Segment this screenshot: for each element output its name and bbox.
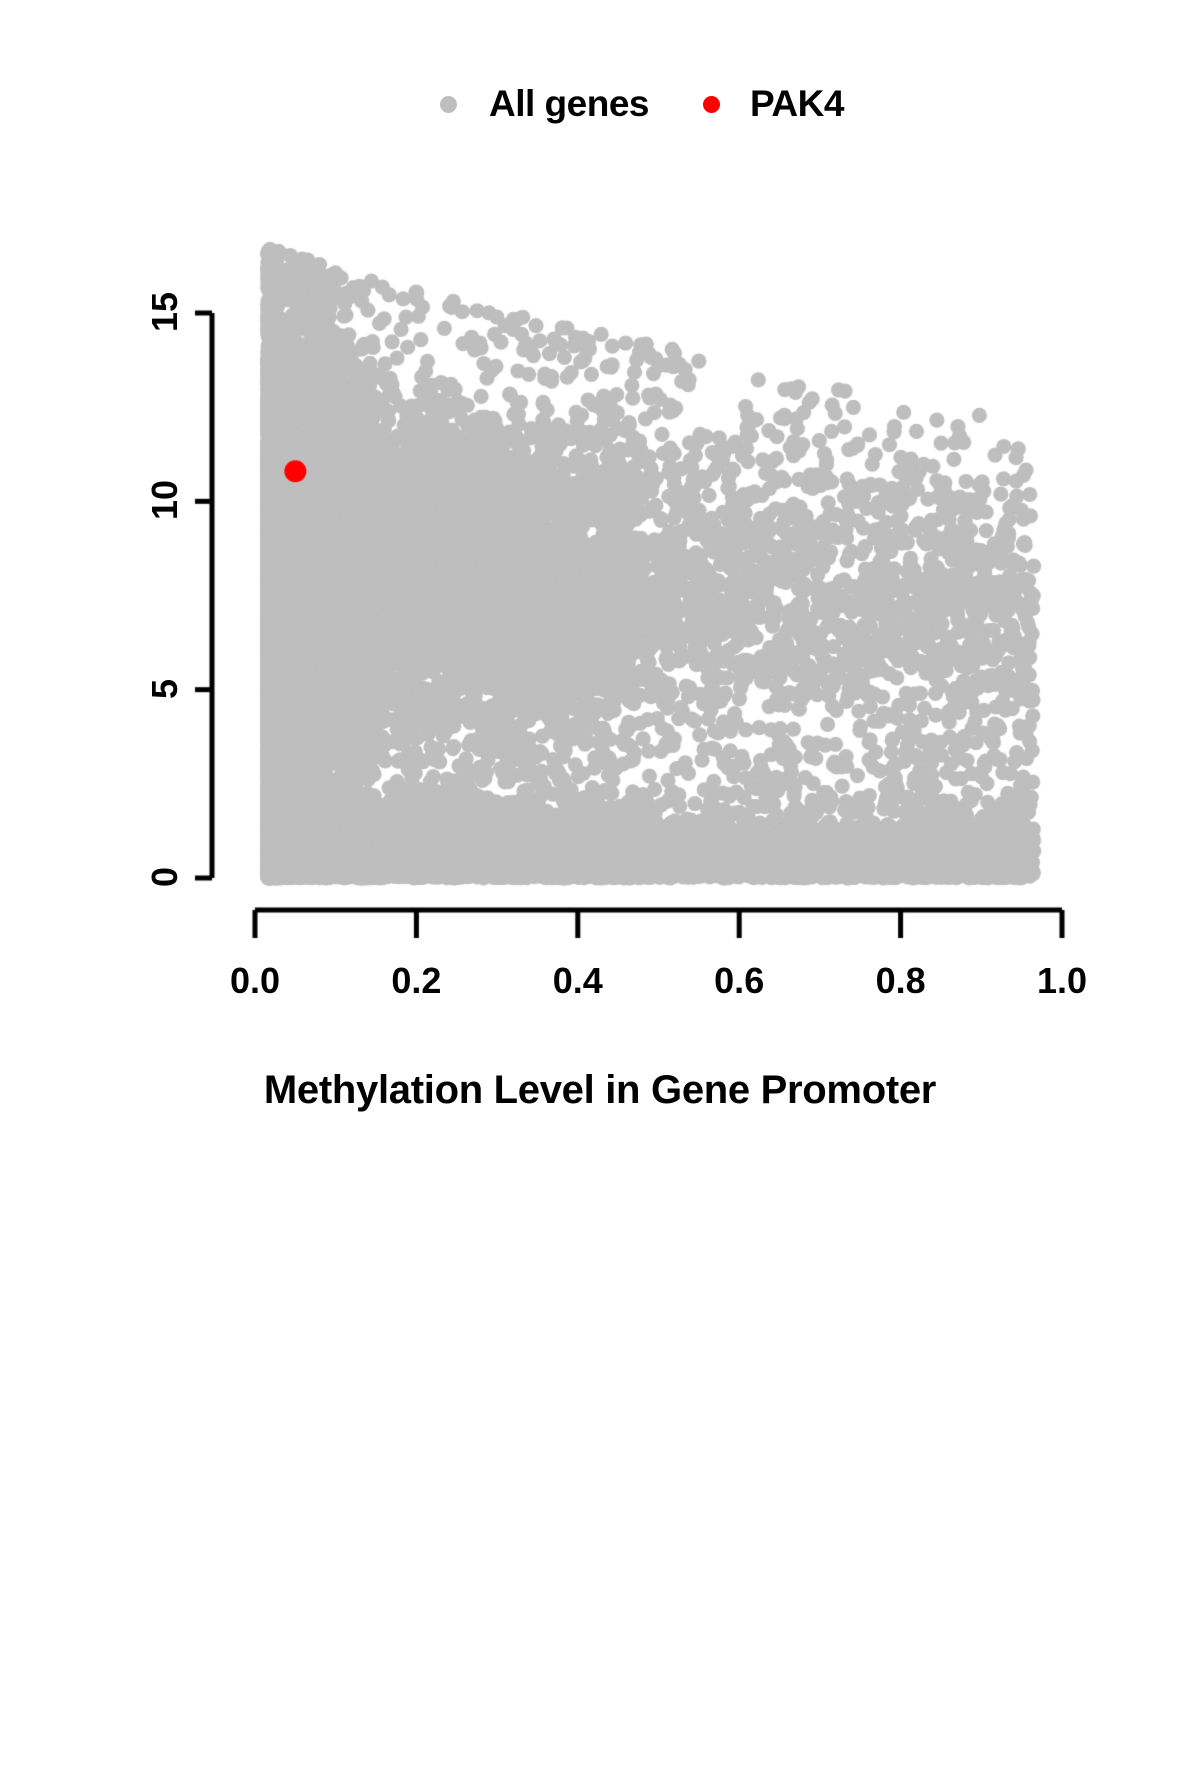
legend-label-pak4: PAK4 bbox=[750, 83, 844, 125]
y-tick-label: 0 bbox=[144, 847, 186, 907]
red-dot-icon bbox=[703, 96, 720, 113]
x-tick-label: 1.0 bbox=[1037, 960, 1087, 1002]
x-tick-label: 0.0 bbox=[230, 960, 280, 1002]
legend-label-all-genes: All genes bbox=[489, 83, 649, 125]
legend-entry-pak4: PAK4 bbox=[703, 83, 844, 125]
y-tick-label: 10 bbox=[144, 470, 186, 530]
x-tick-label: 0.4 bbox=[553, 960, 603, 1002]
scatter-plot-figure: All genes PAK4 Methylation Level in Gene… bbox=[0, 0, 1200, 1200]
grey-dot-icon bbox=[440, 96, 457, 113]
x-tick-label: 0.2 bbox=[391, 960, 441, 1002]
x-tick-label: 0.6 bbox=[714, 960, 764, 1002]
y-tick-label: 15 bbox=[144, 282, 186, 342]
x-tick-label: 0.8 bbox=[876, 960, 926, 1002]
legend-entry-all-genes: All genes bbox=[440, 83, 649, 125]
x-axis-title: Methylation Level in Gene Promoter bbox=[0, 1068, 1200, 1113]
scatter-plot-canvas bbox=[0, 0, 1200, 1200]
chart-legend: All genes PAK4 bbox=[440, 76, 844, 132]
y-tick-label: 5 bbox=[144, 659, 186, 719]
